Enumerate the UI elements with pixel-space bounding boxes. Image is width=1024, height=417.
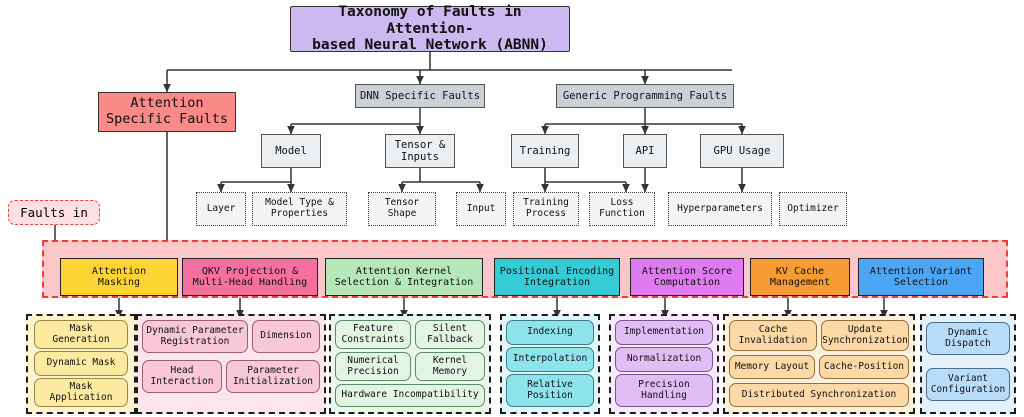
tier4-optimizer-node: Optimizer	[779, 192, 847, 226]
leaf-dynamic-mask[interactable]: Dynamic Mask	[34, 351, 128, 376]
leaf-dynamic-parameter-registration[interactable]: Dynamic Parameter Registration	[142, 320, 248, 353]
leaf-numerical-precision[interactable]: Numerical Precision	[335, 352, 411, 381]
category-qkv-projection[interactable]: QKV Projection & Multi-Head Handling	[182, 258, 318, 296]
tier3-api-node: API	[623, 134, 667, 168]
taxonomy-diagram: Taxonomy of Faults in Attention- based N…	[0, 0, 1024, 417]
tier3-tensor-inputs-node: Tensor & Inputs	[385, 134, 455, 168]
category-positional-encoding[interactable]: Positional Encoding Integration	[494, 258, 620, 296]
category-attention-score[interactable]: Attention Score Computation	[630, 258, 744, 296]
root-node: Taxonomy of Faults in Attention- based N…	[290, 6, 570, 52]
leaf-relative-position[interactable]: Relative Position	[506, 374, 594, 407]
leaf-silent-fallback[interactable]: Silent Fallback	[415, 320, 485, 349]
leaf-update-synchronization[interactable]: Update Synchronization	[821, 320, 909, 351]
leaf-cache-invalidation[interactable]: Cache Invalidation	[729, 320, 817, 351]
leaf-parameter-initialization[interactable]: Parameter Initialization	[226, 360, 320, 393]
leaf-mask-application[interactable]: Mask Application	[34, 378, 128, 407]
category-attention-kernel[interactable]: Attention Kernel Selection & Integration	[325, 258, 483, 296]
leaf-kernel-memory[interactable]: Kernel Memory	[415, 352, 485, 381]
category-kv-cache[interactable]: KV Cache Management	[750, 258, 850, 296]
attention-specific-faults-node: Attention Specific Faults	[98, 92, 236, 132]
leaf-memory-layout[interactable]: Memory Layout	[729, 355, 815, 379]
tier3-training-node: Training	[511, 134, 579, 168]
tier4-tensor-shape-node: Tensor Shape	[368, 192, 436, 226]
tier4-loss-function-node: Loss Function	[589, 192, 655, 226]
generic-programming-faults-node: Generic Programming Faults	[556, 84, 734, 108]
tier4-training-process-node: Training Process	[513, 192, 579, 226]
tier4-input-node: Input	[456, 192, 506, 226]
tier4-hyperparameters-node: Hyperparameters	[668, 192, 772, 226]
tier4-layer-node: Layer	[196, 192, 246, 226]
leaf-mask-generation[interactable]: Mask Generation	[34, 320, 128, 349]
leaf-head-interaction[interactable]: Head Interaction	[142, 360, 222, 393]
leaf-variant-configuration[interactable]: Variant Configuration	[926, 368, 1010, 401]
faults-in-badge: Faults in	[8, 200, 100, 225]
leaf-interpolation[interactable]: Interpolation	[506, 347, 594, 372]
leaf-dynamic-dispatch[interactable]: Dynamic Dispatch	[926, 322, 1010, 355]
tier3-model-node: Model	[261, 134, 321, 168]
tier4-model-type-node: Model Type & Properties	[252, 192, 347, 226]
leaf-hardware-incompatibility[interactable]: Hardware Incompatibility	[335, 384, 485, 407]
category-attention-masking[interactable]: Attention Masking	[60, 258, 178, 296]
leaf-feature-constraints[interactable]: Feature Constraints	[335, 320, 411, 349]
leaf-precision-handling[interactable]: Precision Handling	[615, 374, 713, 407]
dnn-specific-faults-node: DNN Specific Faults	[355, 84, 485, 108]
tier3-gpu-usage-node: GPU Usage	[700, 134, 784, 168]
leaf-indexing[interactable]: Indexing	[506, 320, 594, 345]
leaf-distributed-synchronization[interactable]: Distributed Synchronization	[729, 383, 909, 407]
leaf-cache-position[interactable]: Cache-Position	[819, 355, 909, 379]
leaf-implementation[interactable]: Implementation	[615, 320, 713, 345]
leaf-dimension[interactable]: Dimension	[252, 320, 320, 353]
category-attention-variant[interactable]: Attention Variant Selection	[858, 258, 984, 296]
leaf-normalization[interactable]: Normalization	[615, 347, 713, 372]
